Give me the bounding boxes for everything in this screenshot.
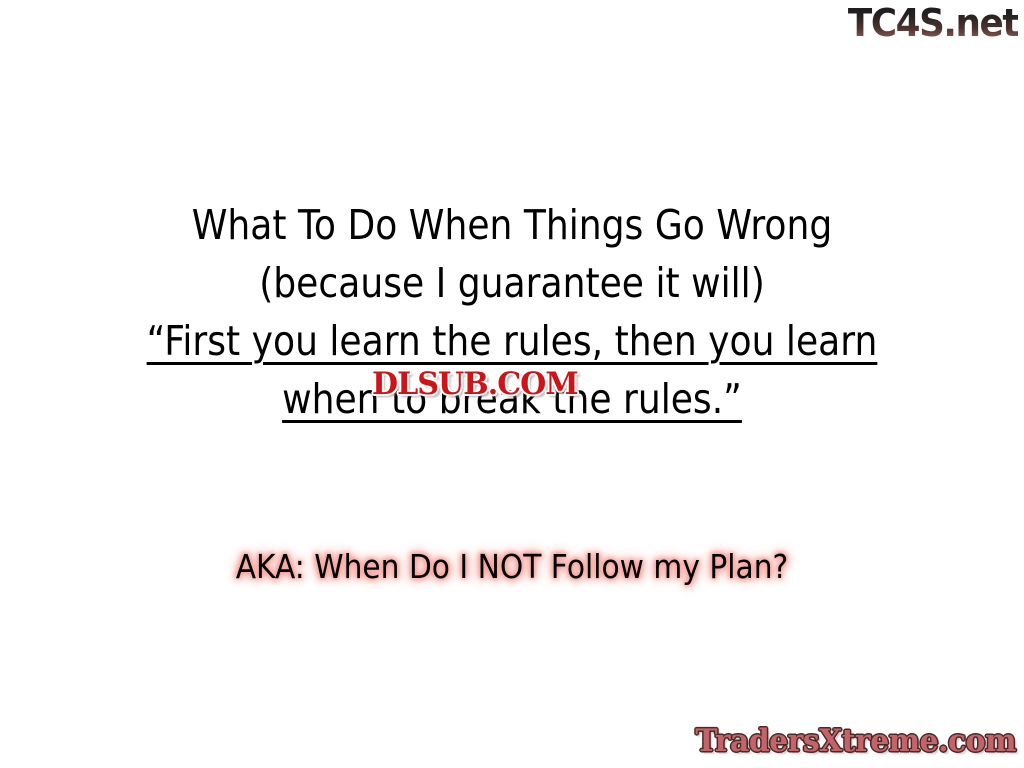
main-text-line-1: What To Do When Things Go Wrong <box>61 196 962 254</box>
subtitle-line: AKA: When Do I NOT Follow my Plan? <box>0 546 1024 588</box>
slide-canvas: TC4S.net What To Do When Things Go Wrong… <box>0 0 1024 768</box>
main-text-line-3: “First you learn the rules, then you lea… <box>61 312 962 370</box>
main-text-line-2: (because I guarantee it will) <box>61 254 962 312</box>
tc4s-site-logo: TC4S.net <box>848 2 1018 44</box>
tradersxtreme-brand-logo: TradersXtreme.com <box>695 722 1016 760</box>
dlsub-watermark: DLSUB.COM <box>372 366 578 402</box>
subtitle-text: AKA: When Do I NOT Follow my Plan? <box>236 546 789 588</box>
